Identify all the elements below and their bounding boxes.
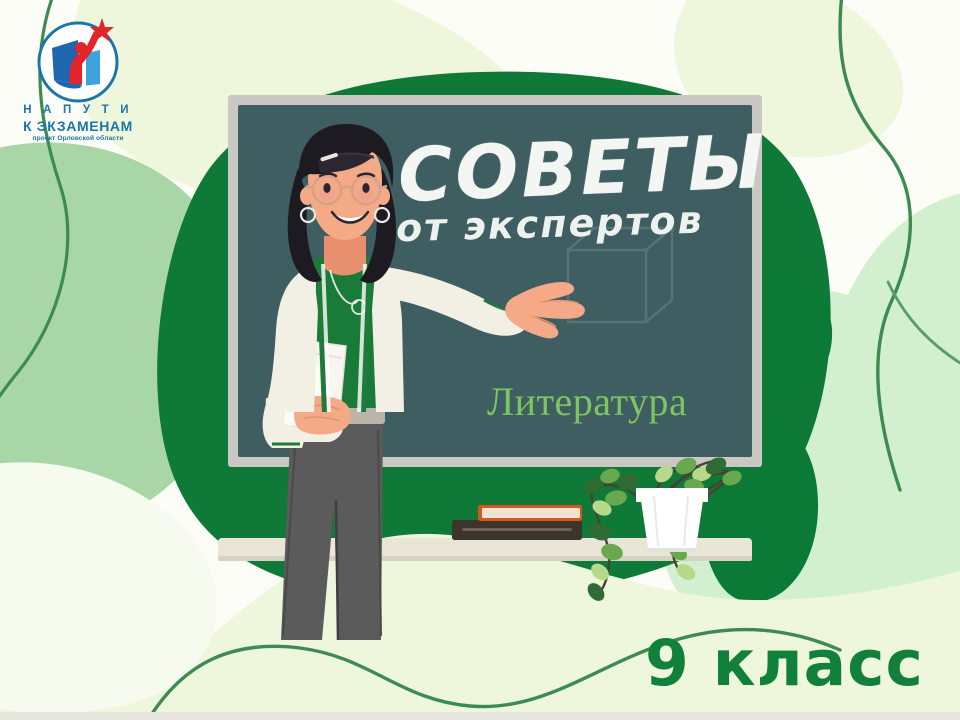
poster-root: Н А П У Т И К ЭКЗАМЕНАМ проект Орловской… <box>0 0 960 720</box>
logo[interactable]: Н А П У Т И К ЭКЗАМЕНАМ проект Орловской… <box>14 14 142 142</box>
logo-line-2: К ЭКЗАМЕНАМ <box>14 118 142 134</box>
logo-emblem <box>14 14 142 106</box>
chalkboard-subheadline: от экспертов <box>395 198 704 251</box>
subject-label: Литература <box>487 378 687 425</box>
logo-line-3: проект Орловской области <box>14 135 142 142</box>
grade-badge: 9 класс <box>645 627 924 700</box>
text-layer: Н А П У Т И К ЭКЗАМЕНАМ проект Орловской… <box>0 0 960 720</box>
logo-line-1: Н А П У Т И <box>14 104 142 116</box>
